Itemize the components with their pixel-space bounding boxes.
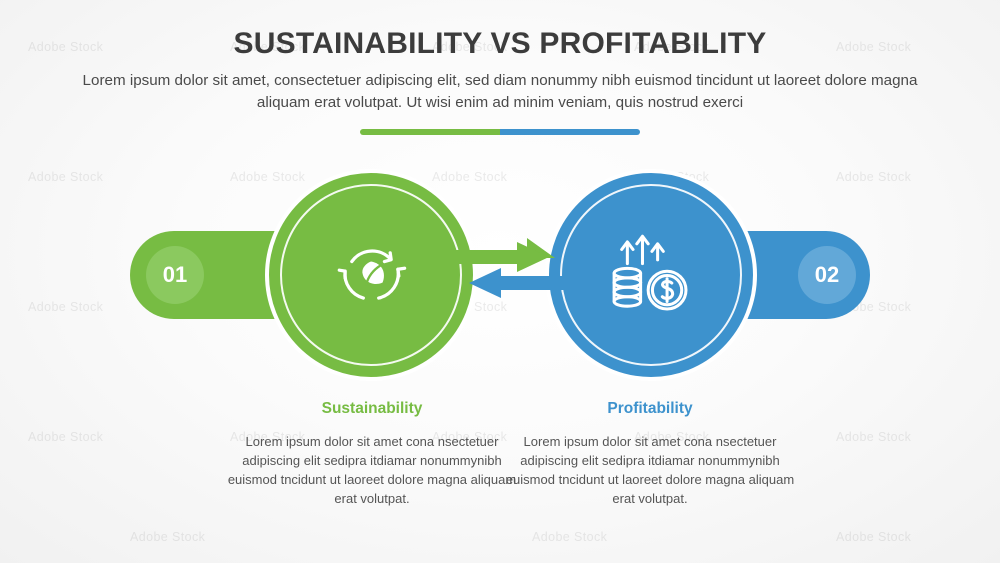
caption-title-profitability: Profitability <box>500 400 800 418</box>
bidirectional-arrow-icon <box>455 225 565 325</box>
watermark-tile: Adobe Stock <box>130 530 205 544</box>
diagram-area: 01 02 <box>0 150 1000 400</box>
page-subtitle: Lorem ipsum dolor sit amet, consectetuer… <box>65 70 935 114</box>
money-growth-icon <box>549 173 753 377</box>
caption-sustainability: Sustainability Lorem ipsum dolor sit ame… <box>222 400 522 508</box>
node-number-badge-01: 01 <box>146 246 204 304</box>
page-title: SUSTAINABILITY VS PROFITABILITY <box>0 27 1000 61</box>
node-circle-sustainability[interactable] <box>265 169 477 381</box>
caption-body-profitability: Lorem ipsum dolor sit amet cona nsectetu… <box>500 432 800 508</box>
watermark-tile: Adobe Stock <box>28 430 103 444</box>
recycle-leaf-icon <box>269 173 473 377</box>
caption-title-sustainability: Sustainability <box>222 400 522 418</box>
node-number-badge-02: 02 <box>798 246 856 304</box>
title-divider <box>360 129 640 135</box>
caption-profitability: Profitability Lorem ipsum dolor sit amet… <box>500 400 800 508</box>
caption-body-sustainability: Lorem ipsum dolor sit amet cona nsectetu… <box>222 432 522 508</box>
node-circle-profitability[interactable] <box>545 169 757 381</box>
divider-green-half <box>360 129 500 135</box>
watermark-tile: Adobe Stock <box>836 430 911 444</box>
divider-blue-half <box>500 129 640 135</box>
watermark-tile: Adobe Stock <box>532 530 607 544</box>
slide-canvas: Adobe Stock Adobe Stock Adobe Stock Adob… <box>0 0 1000 563</box>
watermark-tile: Adobe Stock <box>836 530 911 544</box>
